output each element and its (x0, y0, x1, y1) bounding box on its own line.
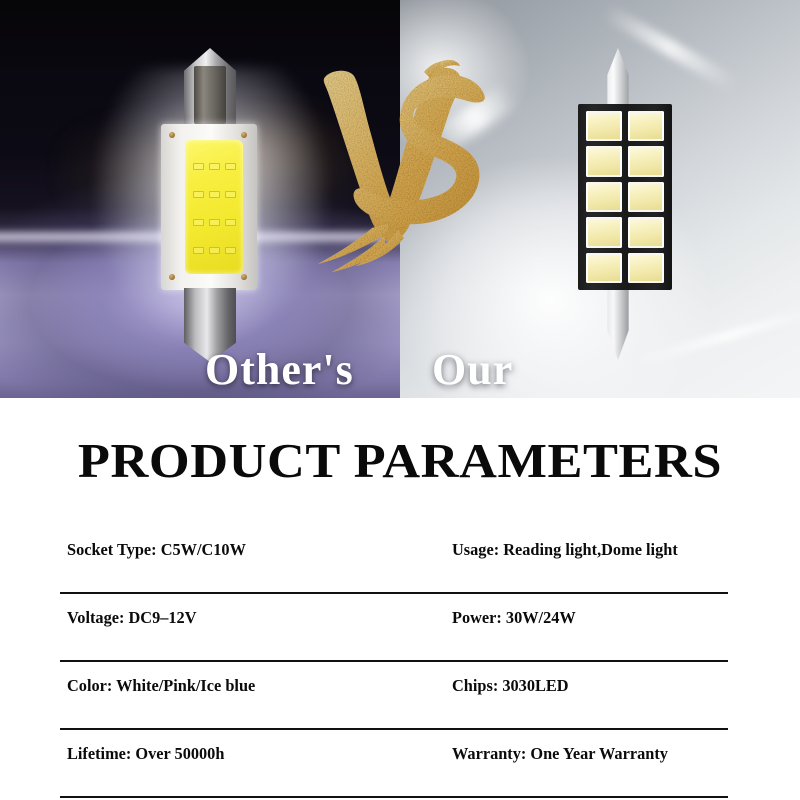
board-screw (169, 274, 175, 280)
param-lifetime: Lifetime: Over 50000h (67, 744, 224, 764)
param-usage: Usage: Reading light,Dome light (452, 540, 678, 560)
smd-chip (628, 182, 664, 212)
smd-chip (586, 217, 622, 247)
bulb-pcb-board (161, 124, 257, 290)
highlight-streak-left (430, 82, 519, 154)
cob-chip (193, 191, 204, 198)
cob-chip (225, 191, 236, 198)
bulb-pcb-board (578, 104, 672, 290)
product-comparison-banner: Other's Our (0, 0, 800, 398)
param-power: Power: 30W/24W (452, 608, 576, 628)
cob-chip (193, 247, 204, 254)
cob-chip (209, 247, 220, 254)
table-row: Lifetime: Over 50000h Warranty: One Year… (60, 730, 728, 798)
board-screw (241, 132, 247, 138)
cob-chip (193, 219, 204, 226)
parameters-table: Socket Type: C5W/C10W Usage: Reading lig… (60, 526, 728, 798)
param-voltage: Voltage: DC9–12V (67, 608, 196, 628)
cob-chip (209, 191, 220, 198)
smd-chip (586, 253, 622, 283)
table-row: Voltage: DC9–12V Power: 30W/24W (60, 594, 728, 662)
smd-chip (586, 111, 622, 141)
table-row: Color: White/Pink/Ice blue Chips: 3030LE… (60, 662, 728, 730)
page-title: PRODUCT PARAMETERS (0, 436, 800, 485)
our-product-label: Our (432, 348, 513, 392)
param-warranty: Warranty: One Year Warranty (452, 744, 668, 764)
smd-chip (628, 217, 664, 247)
cob-chip-grid (190, 152, 238, 264)
product-parameters-section: PRODUCT PARAMETERS Socket Type: C5W/C10W… (0, 398, 800, 800)
param-socket-type: Socket Type: C5W/C10W (67, 540, 246, 560)
cob-chip (225, 219, 236, 226)
cob-festoon-led-bulb (148, 40, 268, 360)
smd-chip (628, 111, 664, 141)
param-chips: Chips: 3030LED (452, 676, 569, 696)
cob-chip (209, 163, 220, 170)
smd-festoon-led-bulb (568, 48, 682, 360)
smd-chip-grid (586, 111, 664, 283)
competitor-label: Other's (205, 348, 354, 392)
cob-chip (193, 163, 204, 170)
smd-chip (628, 253, 664, 283)
cob-chip (225, 163, 236, 170)
cob-phosphor-panel (185, 140, 243, 274)
smd-chip (628, 146, 664, 176)
cob-chip (225, 247, 236, 254)
param-color: Color: White/Pink/Ice blue (67, 676, 255, 696)
table-row: Socket Type: C5W/C10W Usage: Reading lig… (60, 526, 728, 594)
cob-chip (209, 219, 220, 226)
smd-chip (586, 146, 622, 176)
bulb-end-cap-top (184, 48, 236, 124)
board-screw (241, 274, 247, 280)
smd-chip (586, 182, 622, 212)
board-screw (169, 132, 175, 138)
